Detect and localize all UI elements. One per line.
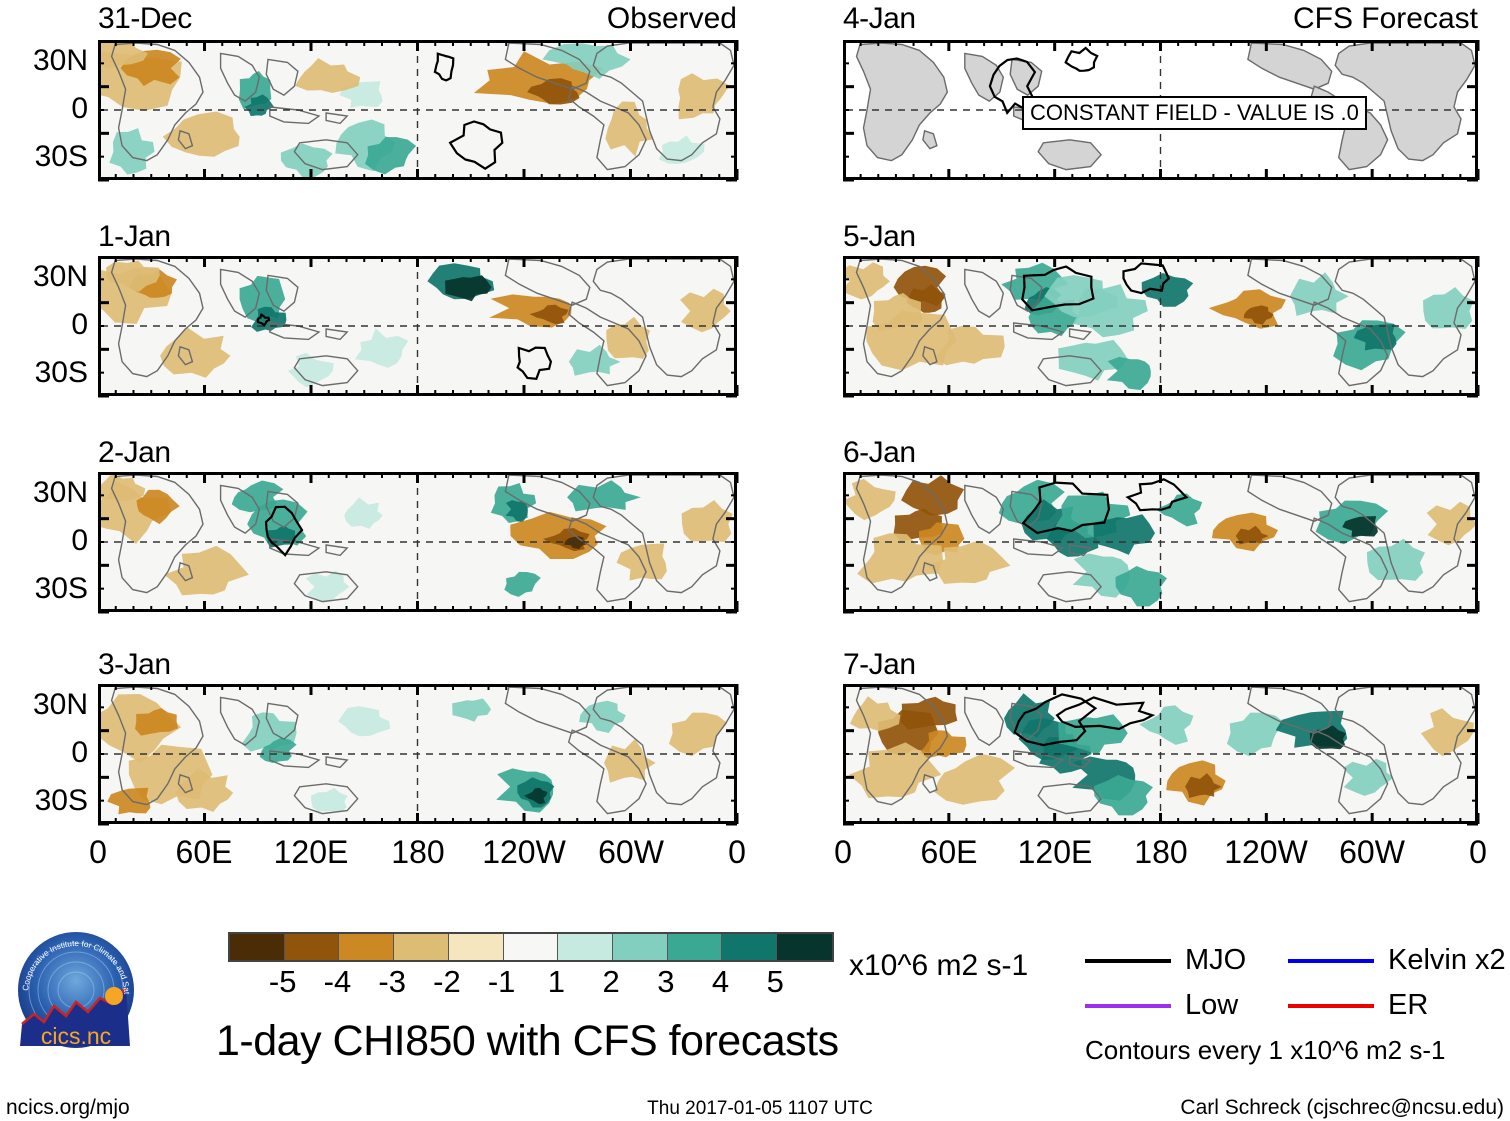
- map-canvas: [101, 43, 734, 177]
- coastline: [326, 545, 347, 555]
- panel-title-6jan: 6-Jan: [843, 438, 916, 468]
- map-canvas: [846, 475, 1475, 609]
- contour-interval-note: Contours every 1 x10^6 m2 s-1: [1085, 1037, 1445, 1063]
- mjo-contour: [435, 54, 453, 81]
- anomaly-contour-fill: [344, 497, 382, 529]
- anomaly-contour-fill: [109, 128, 154, 175]
- legend-label-er: ER: [1388, 991, 1428, 1020]
- coastline: [965, 269, 1004, 317]
- coastline: [965, 697, 1004, 745]
- colorbar: -5-4-3-2-112345: [228, 932, 834, 1022]
- anomaly-contour-fill: [1427, 502, 1475, 545]
- x-tick-120e: 120E: [1018, 836, 1093, 868]
- panel-title-3jan: 3-Jan: [98, 650, 171, 680]
- anomaly-contour-fill: [1290, 272, 1349, 316]
- coastline: [1038, 784, 1101, 814]
- colorbar-tick-2: -3: [378, 966, 406, 997]
- y-axis-label-0: 0: [2, 310, 88, 340]
- anomaly-contour-fill: [311, 788, 348, 812]
- map-panel-31dec[interactable]: [98, 40, 737, 180]
- panel-title-4jan: 4-Jan: [843, 4, 916, 34]
- map-canvas: [846, 687, 1475, 821]
- anomaly-contour-fill: [934, 754, 1015, 805]
- colorbar-segment-3: [394, 934, 449, 960]
- anomaly-contour-fill: [452, 699, 491, 722]
- panel-title-1jan: 1-Jan: [98, 222, 171, 252]
- anomaly-contour-fill: [901, 475, 964, 515]
- anomaly-contour-fill: [355, 328, 408, 368]
- map-panel-1jan[interactable]: [98, 256, 737, 396]
- colorbar-tick-0: -5: [269, 966, 297, 997]
- anomaly-contour-fill: [1423, 287, 1474, 329]
- map-canvas: [101, 259, 734, 393]
- anomaly-contour-fill: [1139, 705, 1193, 745]
- footer-author: Carl Schreck (cjschrec@ncsu.edu): [1178, 1096, 1504, 1120]
- x-tick-360: 0: [1469, 836, 1487, 868]
- colorbar-segment-1: [285, 934, 340, 960]
- legend-item-er: ER: [1288, 991, 1428, 1020]
- er-line-swatch: [1288, 1004, 1374, 1008]
- coastline: [326, 113, 347, 123]
- coastline: [1070, 329, 1091, 339]
- colorbar-segment-4: [449, 934, 504, 960]
- y-axis-label-30n: 30N: [2, 478, 88, 508]
- anomaly-contour-fill: [579, 701, 626, 733]
- colorbar-strip: [228, 932, 834, 962]
- anomaly-contour-fill: [504, 572, 541, 597]
- map-canvas: [101, 687, 734, 821]
- colorbar-tick-3: -2: [433, 966, 461, 997]
- colorbar-segment-9: [722, 934, 777, 960]
- footer-left-link[interactable]: ncics.org/mjo: [6, 1096, 130, 1120]
- map-canvas: [101, 475, 734, 609]
- colorbar-unit-label: x10^6 m2 s-1: [849, 951, 1028, 981]
- y-axis-label-30s: 30S: [2, 786, 88, 816]
- colorbar-ticks: -5-4-3-2-112345: [228, 966, 830, 1000]
- y-axis-label-30n: 30N: [2, 690, 88, 720]
- mjo-contour: [450, 122, 502, 169]
- x-tick-120w: 120W: [482, 836, 566, 868]
- legend-label-mjo: MJO: [1185, 946, 1246, 975]
- anomaly-contour-fill: [604, 739, 656, 783]
- anomaly-contour-fill: [846, 262, 890, 299]
- x-tick-60e: 60E: [921, 836, 978, 868]
- anomaly-contour-fill: [1107, 357, 1151, 390]
- coastline: [965, 485, 1004, 533]
- anomaly-contour-fill: [1343, 759, 1393, 796]
- colorbar-segment-10: [777, 934, 832, 960]
- anomaly-contour-fill: [678, 73, 729, 119]
- y-axis-label-30s: 30S: [2, 358, 88, 388]
- anomaly-contour-fill: [306, 571, 349, 602]
- anomaly-contour-fill: [1209, 289, 1286, 329]
- coastline: [505, 687, 589, 733]
- column-header-observed: Observed: [437, 4, 737, 34]
- x-tick-180: 180: [391, 836, 444, 868]
- anomaly-contour-fill: [338, 706, 390, 736]
- kelvin-line-swatch: [1288, 959, 1374, 963]
- x-axis-right: 0 60E 120E 180 120W 60W 0: [843, 836, 1478, 876]
- map-panel-2jan[interactable]: [98, 472, 737, 612]
- coastline: [326, 329, 347, 339]
- cics-nc-logo: Cooperative Institute for Climate and Sa…: [14, 928, 138, 1052]
- anomaly-contour-fill: [164, 546, 249, 596]
- colorbar-tick-1: -4: [324, 966, 352, 997]
- legend-label-low: Low: [1185, 991, 1238, 1020]
- x-tick-120w: 120W: [1224, 836, 1308, 868]
- x-tick-120e: 120E: [274, 836, 349, 868]
- colorbar-segment-2: [339, 934, 394, 960]
- anomaly-contour-fill: [846, 479, 896, 520]
- anomaly-contour-fill: [107, 788, 150, 814]
- coastline: [326, 757, 347, 767]
- coastline: [1038, 140, 1101, 170]
- mjo-contour: [1066, 48, 1098, 71]
- page-title: 1-day CHI850 with CFS forecasts: [216, 1020, 839, 1063]
- map-panel-7jan[interactable]: [843, 684, 1478, 824]
- x-axis-left: 0 60E 120E 180 120W 60W 0: [98, 836, 737, 876]
- y-axis-label-0: 0: [2, 738, 88, 768]
- legend-item-kelvin: Kelvin x2: [1288, 946, 1506, 975]
- anomaly-contour-fill: [295, 58, 360, 93]
- legend-item-low: Low: [1085, 991, 1238, 1020]
- colorbar-segment-0: [230, 934, 285, 960]
- coastline: [1248, 43, 1332, 89]
- colorbar-segment-5: [504, 934, 559, 960]
- anomaly-contour-fill: [160, 327, 230, 378]
- colorbar-segment-8: [668, 934, 723, 960]
- colorbar-tick-4: -1: [488, 966, 516, 997]
- anomaly-contour-fill: [682, 500, 733, 542]
- colorbar-tick-9: 5: [767, 966, 784, 997]
- y-axis-label-30s: 30S: [2, 574, 88, 604]
- map-panel-6jan[interactable]: [843, 472, 1478, 612]
- legend-item-mjo: MJO: [1085, 946, 1246, 975]
- coastline: [1248, 475, 1332, 521]
- low-line-swatch: [1085, 1004, 1171, 1008]
- x-tick-60e: 60E: [176, 836, 233, 868]
- x-tick-0: 0: [89, 836, 107, 868]
- x-tick-180: 180: [1134, 836, 1187, 868]
- mjo-contour: [518, 348, 551, 379]
- y-axis-label-0: 0: [2, 94, 88, 124]
- legend-label-kelvin: Kelvin x2: [1388, 946, 1506, 975]
- y-axis-label-30s: 30S: [2, 142, 88, 172]
- colorbar-tick-6: 2: [602, 966, 619, 997]
- colorbar-segment-6: [558, 934, 613, 960]
- x-tick-360: 0: [728, 836, 746, 868]
- colorbar-tick-8: 4: [712, 966, 729, 997]
- map-panel-3jan[interactable]: [98, 684, 737, 824]
- footer-timestamp: Thu 2017-01-05 1107 UTC: [647, 1098, 873, 1120]
- mjo-line-swatch: [1085, 959, 1171, 963]
- panel-title-5jan: 5-Jan: [843, 222, 916, 252]
- colorbar-segment-7: [613, 934, 668, 960]
- logo-wordmark: cics.nc: [41, 1023, 111, 1049]
- y-axis-label-30n: 30N: [2, 46, 88, 76]
- anomaly-contour-fill: [163, 112, 240, 157]
- coastline: [1010, 59, 1041, 95]
- colorbar-tick-7: 3: [657, 966, 674, 997]
- column-header-forecast: CFS Forecast: [1178, 4, 1478, 34]
- panel-title-31dec: 31-Dec: [98, 4, 192, 34]
- panel-title-7jan: 7-Jan: [843, 650, 916, 680]
- x-tick-60w: 60W: [1339, 836, 1405, 868]
- anomaly-contour-fill: [669, 713, 727, 757]
- coastline: [266, 59, 298, 95]
- x-tick-60w: 60W: [598, 836, 664, 868]
- y-axis-label-0: 0: [2, 526, 88, 556]
- coastline: [923, 131, 937, 149]
- x-tick-0: 0: [834, 836, 852, 868]
- anomaly-contour-fill: [1421, 708, 1474, 756]
- anomaly-contour-fill: [281, 143, 333, 177]
- panel-title-2jan: 2-Jan: [98, 438, 171, 468]
- colorbar-tick-5: 1: [548, 966, 565, 997]
- map-canvas: [846, 259, 1475, 393]
- map-panel-5jan[interactable]: [843, 256, 1478, 396]
- y-axis-label-30n: 30N: [2, 262, 88, 292]
- constant-field-note: CONSTANT FIELD - VALUE IS .0: [1022, 96, 1367, 130]
- coastline: [965, 53, 1004, 101]
